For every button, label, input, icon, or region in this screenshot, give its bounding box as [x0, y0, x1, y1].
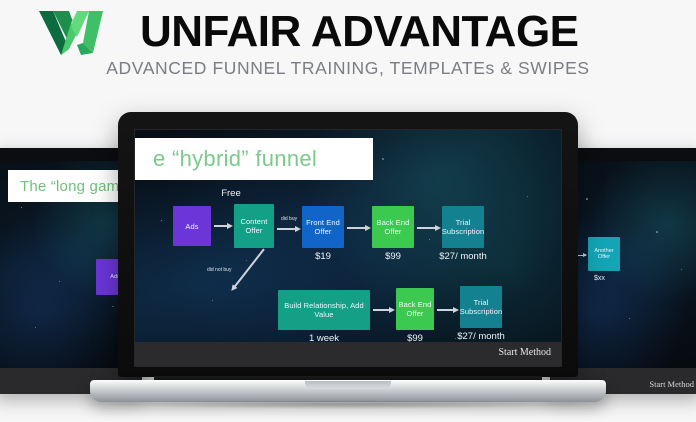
- arrow-back-end-2-to-trial-2: [437, 309, 457, 311]
- laptop-base-notch: [305, 381, 391, 389]
- free-label: Free: [211, 188, 251, 199]
- slide-footer-bar: Start Method: [135, 342, 561, 366]
- label-did-not-buy: did not buy: [207, 267, 231, 273]
- node-trial-subscription-2-label: Trial Subscription: [460, 298, 502, 316]
- node-back-end-offer-label: Back End Offer: [374, 218, 412, 236]
- page-title: UNFAIR ADVANTAGE: [140, 8, 579, 56]
- right-slide-footer-text: Start Method: [649, 379, 694, 389]
- caption-front-end-offer: $19: [302, 251, 344, 262]
- node-content-offer: Content Offer: [234, 204, 274, 248]
- slide-footer-text: Start Method: [499, 347, 552, 358]
- node-trial-subscription-label: Trial Subscription: [442, 218, 484, 236]
- node-ads-label: Ads: [185, 222, 198, 231]
- arrow-ads-to-content-offer: [214, 225, 231, 227]
- page-subtitle: ADVANCED FUNNEL TRAINING, TEMPLATEs & SW…: [0, 58, 696, 79]
- label-did-buy: did buy: [281, 216, 297, 222]
- arrow-build-relationship-to-back-end-2: [373, 309, 393, 311]
- node-trial-subscription-2: Trial Subscription: [460, 286, 502, 328]
- node-trial-subscription: Trial Subscription: [442, 206, 484, 248]
- arrow-back-end-to-trial: [417, 227, 439, 229]
- node-back-end-offer-2-label: Back End Offer: [398, 300, 432, 318]
- laptop-drop-shadow: [108, 400, 588, 409]
- right-node-another-offer-label: Another Offer: [589, 248, 619, 261]
- laptop-screen: e “hybrid” funnel Free Ads Content Offer…: [134, 129, 562, 367]
- arrow-front-end-to-back-end: [347, 227, 369, 229]
- node-back-end-offer-2: Back End Offer: [396, 288, 434, 330]
- page-header: UNFAIR ADVANTAGE ADVANCED FUNNEL TRAININ…: [0, 0, 696, 96]
- node-front-end-offer: Front End Offer: [302, 206, 344, 248]
- node-content-offer-label: Content Offer: [236, 217, 272, 235]
- caption-back-end-offer: $99: [372, 251, 414, 262]
- right-slide-node-another-offer: Another Offer: [588, 237, 620, 271]
- node-ads: Ads: [173, 206, 211, 246]
- hero-stage: Ads Content Offer Fr The “long game” fun…: [0, 96, 696, 422]
- node-front-end-offer-label: Front End Offer: [304, 218, 342, 236]
- arrow-content-offer-to-front-end: [277, 228, 299, 230]
- va-monogram-logo: [37, 9, 109, 57]
- caption-trial-subscription-2: $27/ month: [448, 331, 514, 342]
- laptop-lid: e “hybrid” funnel Free Ads Content Offer…: [118, 112, 578, 377]
- right-slide-node-another-offer-caption: $xx: [594, 275, 605, 282]
- node-back-end-offer: Back End Offer: [372, 206, 414, 248]
- caption-trial-subscription: $27/ month: [430, 251, 496, 262]
- laptop-device: e “hybrid” funnel Free Ads Content Offer…: [118, 112, 578, 422]
- node-build-relationship-label: Build Relationship, Add Value: [280, 301, 368, 319]
- slide-title-band: e “hybrid” funnel: [135, 138, 373, 180]
- slide-title: e “hybrid” funnel: [153, 146, 317, 172]
- node-build-relationship: Build Relationship, Add Value: [278, 290, 370, 330]
